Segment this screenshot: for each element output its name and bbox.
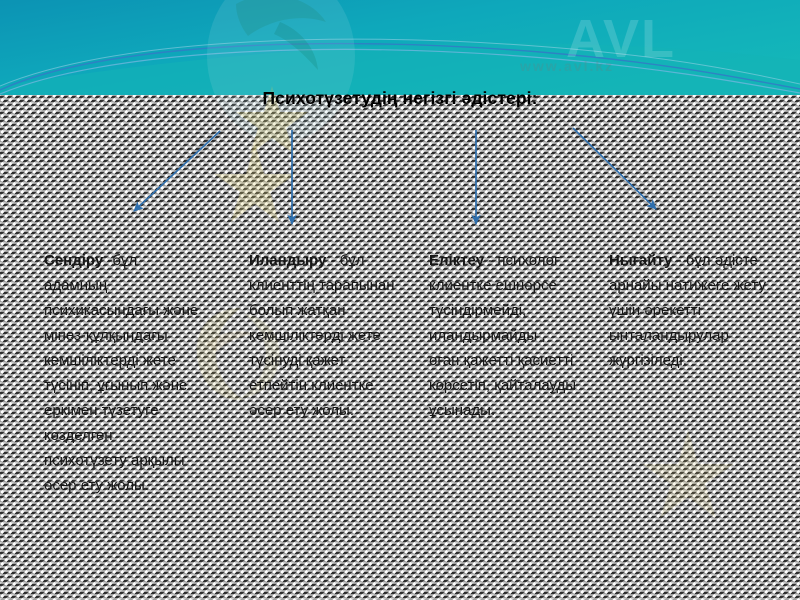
method-term-eliktew: Еліктеу bbox=[429, 252, 484, 269]
method-description-eliktew: - психолог клиентке ешнәрсе түсіндірмейд… bbox=[429, 252, 576, 419]
method-term-ilandyru: Иландыру bbox=[249, 252, 326, 269]
method-term-sendiru: Сендіру bbox=[44, 252, 103, 269]
slide-title: Психотүзетудің негізгі әдістері: bbox=[0, 88, 800, 109]
method-description-sendiru: -бұл адамның психикасындағы және мінез-қ… bbox=[44, 252, 198, 494]
slide-header-banner: AVL www.avl.kz bbox=[0, 0, 800, 95]
method-description-ilandyru: - бұл клиенттің тарапынан болып жатқан к… bbox=[249, 252, 395, 419]
method-description-nygaitu: - бұл әдісте арнайы нәтижеге жету үшін ә… bbox=[609, 252, 766, 369]
method-term-nygaitu: Нығайту bbox=[609, 252, 673, 269]
presentation-slide: AVL www.avl.kz Психотүзетудің негізгі әд… bbox=[0, 0, 800, 600]
method-column-eliktew: Еліктеу - психолог клиентке ешнәрсе түсі… bbox=[429, 248, 577, 423]
method-column-nygaitu: Нығайту - бұл әдісте арнайы нәтижеге жет… bbox=[609, 248, 787, 373]
method-column-sendiru: Сендіру -бұл адамның психикасындағы және… bbox=[44, 248, 199, 498]
method-columns: Сендіру -бұл адамның психикасындағы және… bbox=[0, 248, 800, 548]
method-column-ilandyru: Иландыру - бұл клиенттің тарапынан болып… bbox=[249, 248, 399, 423]
